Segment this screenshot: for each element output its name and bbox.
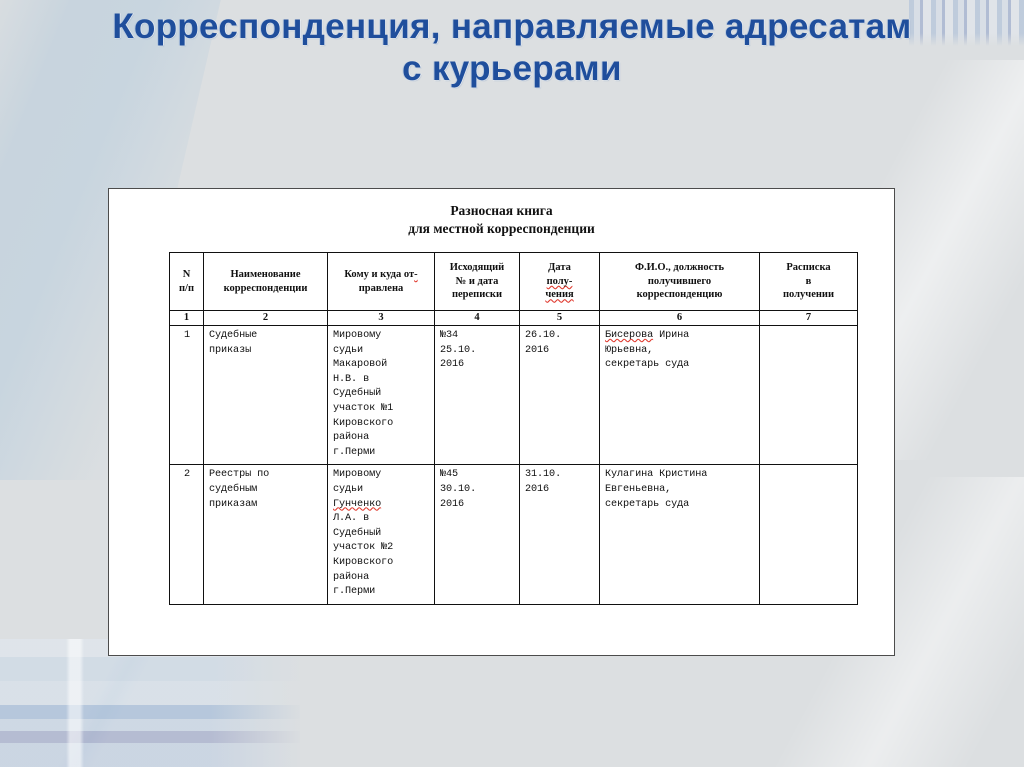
- column-header-outgoing: Исходящий № и дата переписки: [435, 253, 520, 311]
- cell-number: 2: [170, 465, 204, 604]
- document-card: Разносная книга для местной корреспонден…: [108, 188, 895, 656]
- cell-receiver: Кулагина Кристина Евгеньевна, секретарь …: [600, 465, 760, 604]
- cell-receiver: Бисерова ИринаЮрьевна,секретарь суда: [600, 326, 760, 465]
- cell-addressee: МировомусудьиМакаровойН.В. вСудебныйучас…: [328, 326, 435, 465]
- slide-title: Корреспонденция, направляемые адресатам …: [110, 6, 914, 90]
- table-column-number-row: 1 2 3 4 5 6 7: [170, 311, 858, 326]
- column-number-3: 3: [328, 311, 435, 326]
- table-body: 1 Судебные приказы МировомусудьиМакарово…: [170, 326, 858, 605]
- cell-name: Реестры по судебным приказам: [204, 465, 328, 604]
- slide-title-line-3: курьерами: [432, 49, 622, 88]
- column-number-5: 5: [520, 311, 600, 326]
- column-header-signature: Расписка в получении: [760, 253, 858, 311]
- cell-signature: [760, 326, 858, 465]
- table-header: N п/п Наименование корреспонденции Кому …: [170, 253, 858, 326]
- slide-title-line-1: Корреспонденция,: [112, 7, 440, 46]
- correspondence-table: N п/п Наименование корреспонденции Кому …: [169, 252, 858, 605]
- document-heading-line-2: для местной корреспонденции: [109, 220, 894, 238]
- cell-outgoing: №45 30.10. 2016: [435, 465, 520, 604]
- cell-date-received: 31.10. 2016: [520, 465, 600, 604]
- column-number-6: 6: [600, 311, 760, 326]
- document-heading: Разносная книга для местной корреспонден…: [109, 189, 894, 238]
- column-header-number: N п/п: [170, 253, 204, 311]
- slide-canvas: Корреспонденция, направляемые адресатам …: [0, 0, 1024, 767]
- column-header-name: Наименование корреспонденции: [204, 253, 328, 311]
- column-number-2: 2: [204, 311, 328, 326]
- column-header-date-received: Датаполу-чения: [520, 253, 600, 311]
- cell-outgoing: №34 25.10. 2016: [435, 326, 520, 465]
- column-number-7: 7: [760, 311, 858, 326]
- cell-name: Судебные приказы: [204, 326, 328, 465]
- background-stripes-top-right: [909, 0, 1024, 46]
- column-header-receiver: Ф.И.О., должность получившего корреспонд…: [600, 253, 760, 311]
- cell-addressee: МировомусудьиГунченкоЛ.А. вСудебныйучаст…: [328, 465, 435, 604]
- table-row: 2 Реестры по судебным приказам Мировомус…: [170, 465, 858, 604]
- column-header-addressee: Кому и куда от-правлена: [328, 253, 435, 311]
- document-heading-line-1: Разносная книга: [109, 202, 894, 220]
- background-stripes-bottom-left: [0, 639, 300, 767]
- column-number-4: 4: [435, 311, 520, 326]
- column-number-1: 1: [170, 311, 204, 326]
- background-stripes-bottom-left-highlight: [0, 639, 300, 767]
- table-header-row: N п/п Наименование корреспонденции Кому …: [170, 253, 858, 311]
- cell-number: 1: [170, 326, 204, 465]
- table-row: 1 Судебные приказы МировомусудьиМакарово…: [170, 326, 858, 465]
- cell-date-received: 26.10. 2016: [520, 326, 600, 465]
- cell-signature: [760, 465, 858, 604]
